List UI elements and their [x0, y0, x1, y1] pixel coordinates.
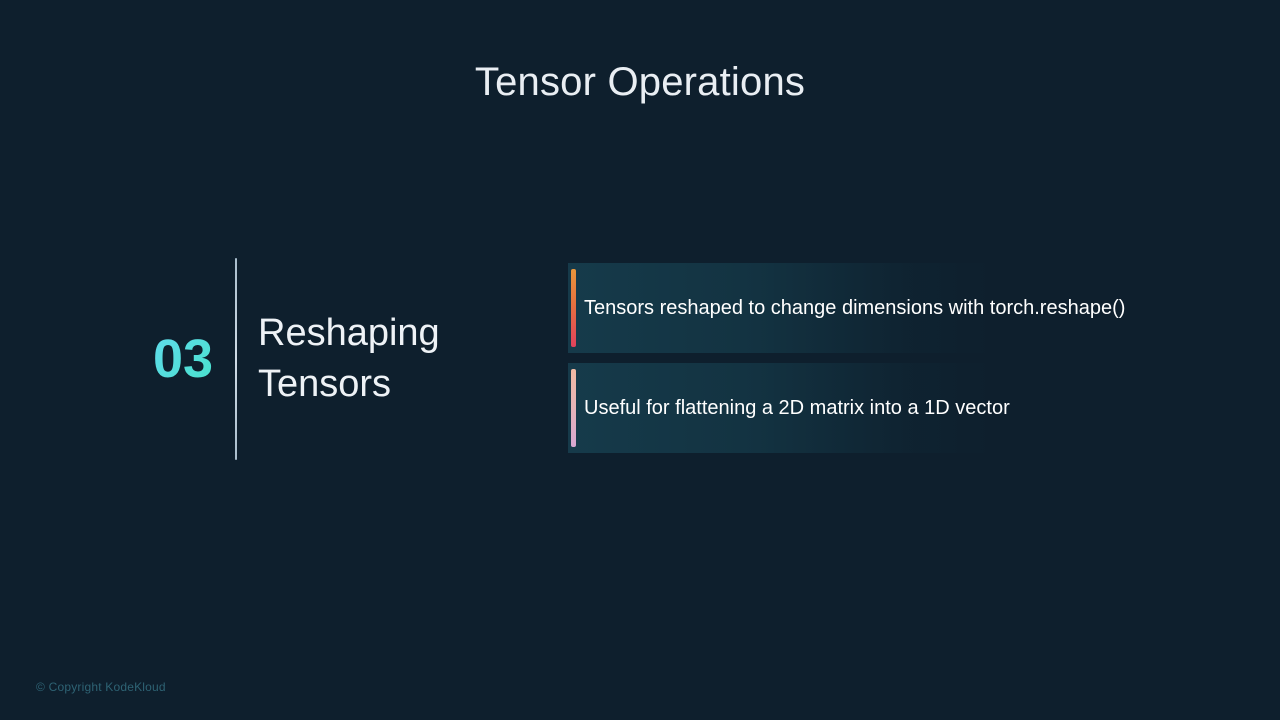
section-heading: Reshaping Tensors: [258, 308, 440, 410]
section-number: 03: [140, 330, 226, 388]
bullet-text: Tensors reshaped to change dimensions wi…: [584, 295, 1125, 321]
page-title: Tensor Operations: [0, 58, 1280, 106]
bullet-text: Useful for flattening a 2D matrix into a…: [584, 395, 1010, 421]
bullet-card-list: Tensors reshaped to change dimensions wi…: [568, 263, 992, 453]
section-heading-line-1: Reshaping: [258, 312, 440, 354]
section-identifier-block: 03 Reshaping Tensors: [140, 258, 500, 460]
presentation-slide: Tensor Operations 03 Reshaping Tensors T…: [0, 0, 1280, 720]
accent-bar-icon: [571, 369, 576, 447]
copyright-notice: © Copyright KodeKloud: [36, 679, 166, 695]
bullet-card: Useful for flattening a 2D matrix into a…: [568, 363, 992, 453]
vertical-divider: [235, 258, 237, 460]
bullet-card: Tensors reshaped to change dimensions wi…: [568, 263, 992, 353]
accent-bar-icon: [571, 269, 576, 347]
section-heading-line-2: Tensors: [258, 363, 391, 405]
